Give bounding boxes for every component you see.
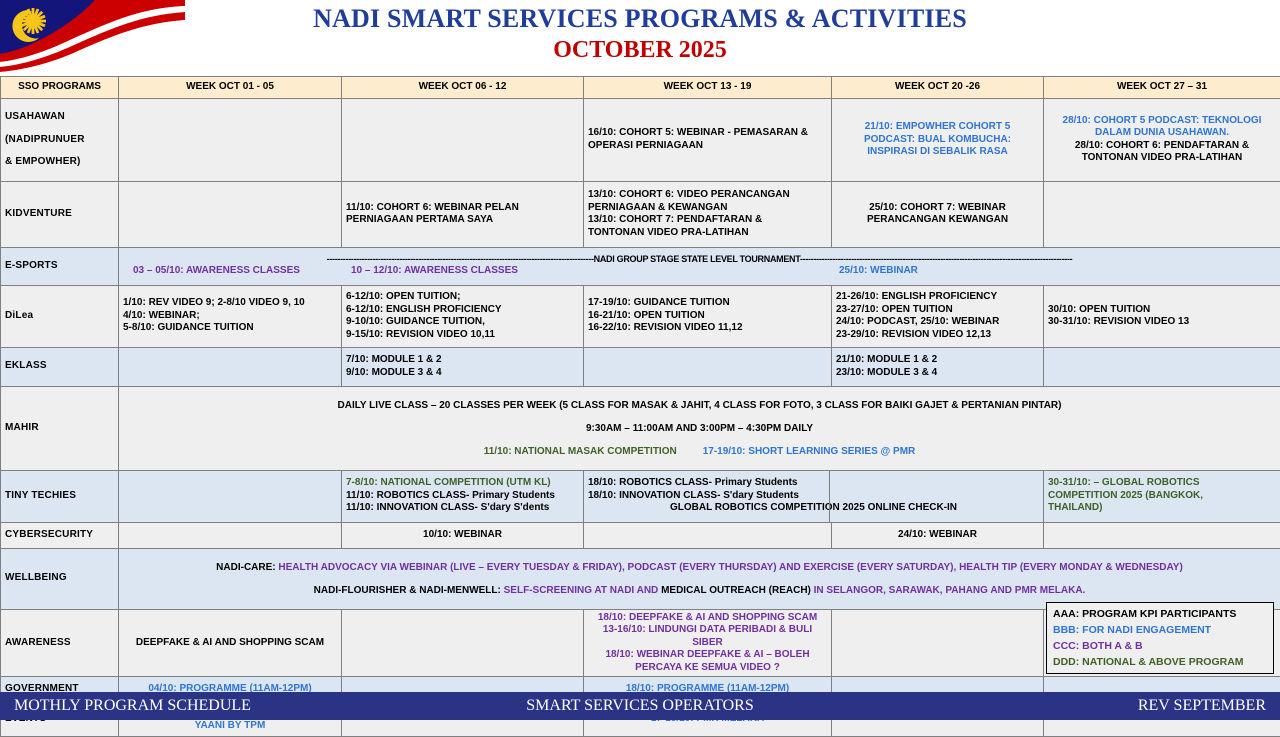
cell-eklass-week2: 7/10: MODULE 1 & 2 9/10: MODULE 3 & 4 [342, 347, 584, 386]
esports-item-3: 25/10: WEBINAR [839, 265, 918, 278]
cell-kidventure-week1 [119, 181, 342, 247]
cell-dilea-week1: 1/10: REV VIDEO 9; 2-8/10 VIDEO 9, 10 4/… [119, 285, 342, 347]
wellbeing-line-1: NADI-CARE: HEALTH ADVOCACY VIA WEBINAR (… [123, 561, 1276, 574]
row-label-eklass: EKLASS [1, 347, 119, 386]
table-row-tinytechies: TINY TECHIES 7-8/10: NATIONAL COMPETITIO… [1, 470, 1280, 522]
footer-left: MOTHLY PROGRAM SCHEDULE [14, 697, 251, 715]
mahir-short-learning: 17-19/10: SHORT LEARNING SERIES @ PMR [703, 445, 916, 458]
column-divider [829, 471, 830, 522]
col-header-week5: WEEK OCT 27 – 31 [1044, 77, 1280, 99]
row-label-kidventure: KIDVENTURE [1, 181, 119, 247]
nadi-flourisher-label: NADI-FLOURISHER & NADI-MENWELL: [314, 585, 501, 596]
nadi-flourisher-text-2: IN SELANGOR, SARAWAK, PAHANG AND PMR MEL… [814, 585, 1086, 596]
cell-kidventure-week4: 25/10: COHORT 7: WEBINAR PERANCANGAN KEW… [832, 181, 1044, 247]
row-label-tinytechies: TINY TECHIES [1, 470, 119, 522]
cell-tinytechies-week5: 30-31/10: – GLOBAL ROBOTICS COMPETITION … [1044, 470, 1280, 522]
dash-right: ----------------------------------------… [800, 254, 1072, 264]
cell-cybersecurity-week4: 24/10: WEBINAR [832, 522, 1044, 548]
legend-box: AAA: PROGRAM KPI PARTICIPANTS BBB: FOR N… [1046, 602, 1274, 674]
page-footer: MOTHLY PROGRAM SCHEDULE SMART SERVICES O… [0, 692, 1280, 720]
cell-cybersecurity-week5 [1044, 522, 1280, 548]
table-header-row: SSO PROGRAMS WEEK OCT 01 - 05 WEEK OCT 0… [1, 77, 1280, 99]
cell-wellbeing-span: NADI-CARE: HEALTH ADVOCACY VIA WEBINAR (… [119, 548, 1280, 609]
page-subtitle: OCTOBER 2025 [0, 36, 1280, 64]
esports-banner-text: NADI GROUP STAGE STATE LEVEL TOURNAMENT [594, 254, 800, 264]
cell-esports-span: ----------------------------------------… [119, 247, 1280, 285]
cell-dilea-week3: 17-19/10: GUIDANCE TUITION 16-21/10: OPE… [584, 285, 832, 347]
cell-awareness-week1: DEEPFAKE & AI AND SHOPPING SCAM [119, 609, 342, 677]
row-label-line: (NADIPRUNUER [5, 134, 114, 147]
esports-item-1: 03 – 05/10: AWARENESS CLASSES [133, 265, 300, 278]
cell-awareness-week3: 18/10: DEEPFAKE & AI AND SHOPPING SCAM 1… [584, 609, 832, 677]
cell-eklass-week5 [1044, 347, 1280, 386]
cell-cybersecurity-week1 [119, 522, 342, 548]
mahir-line-1: DAILY LIVE CLASS – 20 CLASSES PER WEEK (… [123, 399, 1276, 412]
footer-right: REV SEPTEMBER [1138, 697, 1266, 715]
table-row-eklass: EKLASS 7/10: MODULE 1 & 2 9/10: MODULE 3… [1, 347, 1280, 386]
row-label-awareness: AWARENESS [1, 609, 119, 677]
row-label-dilea: DiLea [1, 285, 119, 347]
legend-item-ddd: DDD: NATIONAL & ABOVE PROGRAM [1053, 654, 1267, 670]
cell-kidventure-week3: 13/10: COHORT 6: VIDEO PERANCANGAN PERNI… [584, 181, 832, 247]
cell-cybersecurity-week2: 10/10: WEBINAR [342, 522, 584, 548]
col-header-week3: WEEK OCT 13 - 19 [584, 77, 832, 99]
title-block: NADI SMART SERVICES PROGRAMS & ACTIVITIE… [0, 4, 1280, 64]
page-header: NADI SMART SERVICES PROGRAMS & ACTIVITIE… [0, 0, 1280, 76]
row-label-cybersecurity: CYBERSECURITY [1, 522, 119, 548]
row-label-usahawan: USAHAWAN (NADIPRUNUER & EMPOWHER) [1, 99, 119, 182]
mahir-line-2: 9:30AM – 11:00AM AND 3:00PM – 4:30PM DAI… [123, 422, 1276, 435]
medical-outreach-label: MEDICAL OUTREACH (REACH) [661, 585, 811, 596]
cell-usahawan-week1 [119, 99, 342, 182]
cell-tinytechies-week2: 7-8/10: NATIONAL COMPETITION (UTM KL) 11… [342, 470, 584, 522]
col-header-week2: WEEK OCT 06 - 12 [342, 77, 584, 99]
esports-items: 03 – 05/10: AWARENESS CLASSES 10 – 12/10… [125, 265, 1274, 279]
cell-dilea-week2: 6-12/10: OPEN TUITION; 6-12/10: ENGLISH … [342, 285, 584, 347]
row-label-mahir: MAHIR [1, 386, 119, 470]
table-row-dilea: DiLea 1/10: REV VIDEO 9; 2-8/10 VIDEO 9,… [1, 285, 1280, 347]
table-row-wellbeing: WELLBEING NADI-CARE: HEALTH ADVOCACY VIA… [1, 548, 1280, 609]
wellbeing-line-2: NADI-FLOURISHER & NADI-MENWELL: SELF-SCR… [123, 584, 1276, 597]
row-label-wellbeing: WELLBEING [1, 548, 119, 609]
legend-item-bbb: BBB: FOR NADI ENGAGEMENT [1053, 622, 1267, 638]
schedule-page: NADI SMART SERVICES PROGRAMS & ACTIVITIE… [0, 0, 1280, 720]
dash-left: ----------------------------------------… [327, 254, 594, 264]
cell-kidventure-week2: 11/10: COHORT 6: WEBINAR PELAN PERNIAGAA… [342, 181, 584, 247]
cell-dilea-week5: 30/10: OPEN TUITION 30-31/10: REVISION V… [1044, 285, 1280, 347]
cell-usahawan-week5: 28/10: COHORT 5 PODCAST: TEKNOLOGI DALAM… [1044, 99, 1280, 182]
cell-usahawan-week2 [342, 99, 584, 182]
cell-awareness-week4 [832, 609, 1044, 677]
cell-usahawan-week3: 16/10: COHORT 5: WEBINAR - PEMASARAN & O… [584, 99, 832, 182]
tinytechies-global-checkin: GLOBAL ROBOTICS COMPETITION 2025 ONLINE … [588, 502, 1039, 515]
mahir-line-3: 11/10: NATIONAL MASAK COMPETITION17-19/1… [123, 445, 1276, 458]
nadi-care-label: NADI-CARE: [216, 562, 275, 573]
cell-eklass-week4: 21/10: MODULE 1 & 2 23/10: MODULE 3 & 4 [832, 347, 1044, 386]
row-label-line: USAHAWAN [5, 111, 114, 124]
cell-usahawan-week4: 21/10: EMPOWHER COHORT 5 PODCAST: BUAL K… [832, 99, 1044, 182]
nadi-care-text: HEALTH ADVOCACY VIA WEBINAR (LIVE – EVER… [278, 562, 1182, 573]
esports-item-2: 10 – 12/10: AWARENESS CLASSES [351, 265, 518, 278]
cell-dilea-week4: 21-26/10: ENGLISH PROFICIENCY 23-27/10: … [832, 285, 1044, 347]
cell-mahir-span: DAILY LIVE CLASS – 20 CLASSES PER WEEK (… [119, 386, 1280, 470]
legend-item-ccc: CCC: BOTH A & B [1053, 638, 1267, 654]
cell-tinytechies-week3-4: 18/10: ROBOTICS CLASS- Primary Students … [584, 470, 1044, 522]
row-label-line: & EMPOWHER) [5, 156, 114, 169]
cell-awareness-week2 [342, 609, 584, 677]
cell-kidventure-week5 [1044, 181, 1280, 247]
cell-eklass-week1 [119, 347, 342, 386]
nadi-flourisher-text-1: SELF-SCREENING AT NADI AND [504, 585, 659, 596]
cell-cybersecurity-week3 [584, 522, 832, 548]
mahir-national-masak: 11/10: NATIONAL MASAK COMPETITION [484, 445, 677, 458]
table-row-esports: E-SPORTS -------------------------------… [1, 247, 1280, 285]
esports-banner: ----------------------------------------… [125, 254, 1274, 265]
page-title: NADI SMART SERVICES PROGRAMS & ACTIVITIE… [0, 4, 1280, 34]
table-row-mahir: MAHIR DAILY LIVE CLASS – 20 CLASSES PER … [1, 386, 1280, 470]
table-row-kidventure: KIDVENTURE 11/10: COHORT 6: WEBINAR PELA… [1, 181, 1280, 247]
col-header-week1: WEEK OCT 01 - 05 [119, 77, 342, 99]
legend-item-aaa: AAA: PROGRAM KPI PARTICIPANTS [1053, 606, 1267, 622]
cell-eklass-week3 [584, 347, 832, 386]
col-header-sso: SSO PROGRAMS [1, 77, 119, 99]
col-header-week4: WEEK OCT 20 -26 [832, 77, 1044, 99]
cell-tinytechies-week1 [119, 470, 342, 522]
table-row-usahawan: USAHAWAN (NADIPRUNUER & EMPOWHER) 16/10:… [1, 99, 1280, 182]
table-row-cybersecurity: CYBERSECURITY 10/10: WEBINAR 24/10: WEBI… [1, 522, 1280, 548]
row-label-esports: E-SPORTS [1, 247, 119, 285]
